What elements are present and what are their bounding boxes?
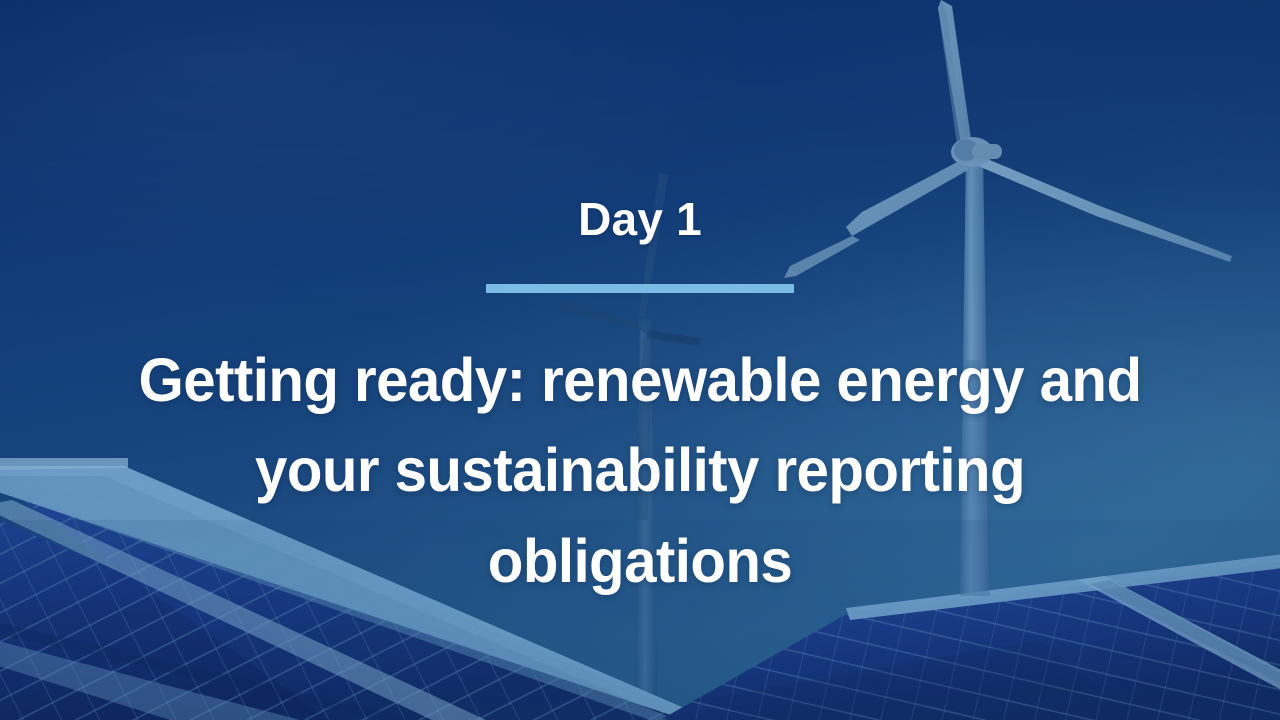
title-divider-rule [486,284,794,293]
slide-title: Getting ready: renewable energy and your… [115,335,1166,606]
slide-title-line: Getting ready: renewable energy and [115,335,1166,425]
slide-title-line: your sustainability reporting [115,425,1166,515]
slide-content: Day 1 Getting ready: renewable energy an… [0,0,1280,720]
title-slide: Day 1 Getting ready: renewable energy an… [0,0,1280,720]
day-label: Day 1 [578,196,702,242]
slide-title-line: obligations [115,516,1166,606]
